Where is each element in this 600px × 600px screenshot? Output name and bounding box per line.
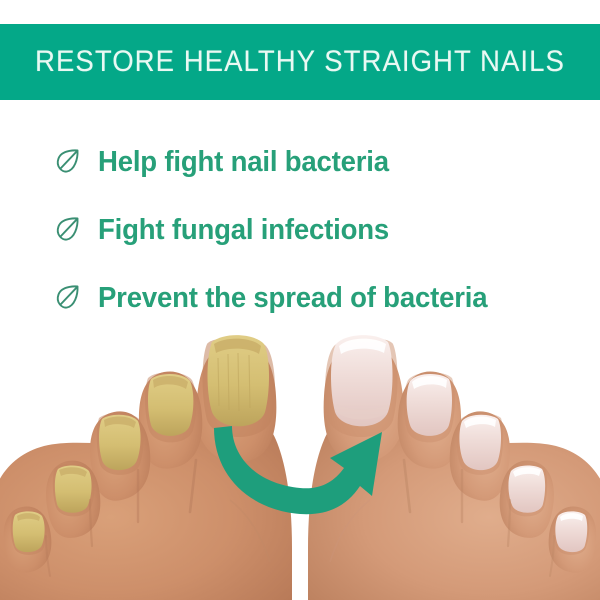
before-and-after-feet-illustration <box>0 300 600 600</box>
left-fourth-toe <box>46 461 100 538</box>
benefit-label: Help fight nail bacteria <box>98 146 389 179</box>
left-big-toe <box>196 335 276 462</box>
right-little-toe <box>549 507 597 573</box>
left-third-toe <box>90 411 150 500</box>
list-item: Help fight nail bacteria <box>48 128 568 196</box>
left-little-toe <box>4 507 52 573</box>
page-title: RESTORE HEALTHY STRAIGHT NAILS <box>35 45 565 79</box>
benefit-label: Fight fungal infections <box>98 214 389 247</box>
right-third-toe <box>450 411 510 500</box>
list-item: Fight fungal infections <box>48 196 568 264</box>
product-benefit-poster: RESTORE HEALTHY STRAIGHT NAILS Help figh… <box>0 0 600 600</box>
right-fourth-toe <box>500 461 554 538</box>
header-banner: RESTORE HEALTHY STRAIGHT NAILS <box>0 24 600 100</box>
leaf-icon <box>48 210 88 250</box>
leaf-icon <box>48 142 88 182</box>
